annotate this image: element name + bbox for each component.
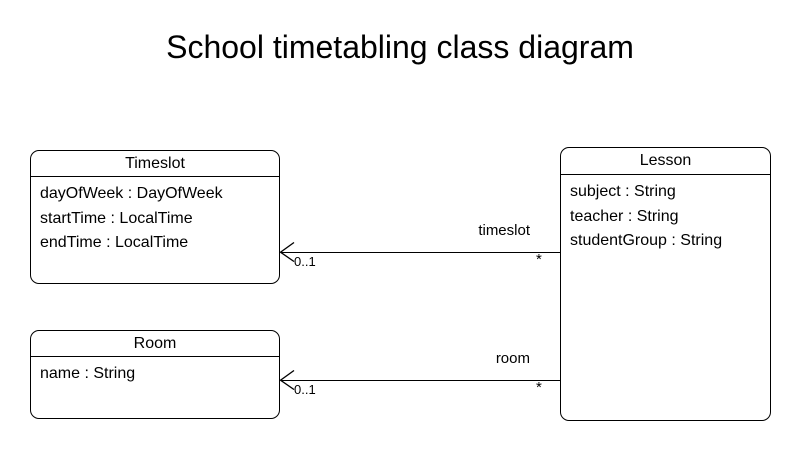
attribute-item: endTime : LocalTime	[40, 231, 273, 256]
class-diagram-canvas: School timetabling class diagram Timeslo…	[0, 0, 800, 450]
attribute-list: name : String	[40, 362, 273, 387]
multiplicity-timeslot-target: 0..1	[294, 254, 316, 270]
multiplicity-room-target: 0..1	[294, 382, 316, 398]
class-name-timeslot: Timeslot	[31, 154, 279, 174]
association-label-room: room	[400, 350, 530, 368]
association-label-timeslot: timeslot	[400, 222, 530, 240]
attribute-item: name : String	[40, 362, 273, 387]
attribute-list: subject : String teacher : String studen…	[570, 180, 764, 254]
attribute-list: dayOfWeek : DayOfWeek startTime : LocalT…	[40, 182, 273, 256]
open-arrow-icon	[279, 242, 295, 262]
class-box-room[interactable]: Room name : String	[30, 330, 280, 419]
class-name-lesson: Lesson	[561, 151, 770, 171]
open-arrow-icon	[279, 370, 295, 390]
class-divider	[31, 356, 279, 357]
class-box-timeslot[interactable]: Timeslot dayOfWeek : DayOfWeek startTime…	[30, 150, 280, 284]
attribute-item: teacher : String	[570, 205, 764, 230]
attribute-item: startTime : LocalTime	[40, 207, 273, 232]
class-name-room: Room	[31, 334, 279, 354]
page-title: School timetabling class diagram	[0, 27, 800, 67]
association-line-timeslot	[281, 252, 560, 253]
association-line-room	[281, 380, 560, 381]
attribute-item: studentGroup : String	[570, 229, 764, 254]
class-box-lesson[interactable]: Lesson subject : String teacher : String…	[560, 147, 771, 421]
class-divider	[31, 176, 279, 177]
multiplicity-timeslot-source: *	[536, 252, 542, 268]
class-divider	[561, 174, 770, 175]
attribute-item: subject : String	[570, 180, 764, 205]
multiplicity-room-source: *	[536, 380, 542, 396]
attribute-item: dayOfWeek : DayOfWeek	[40, 182, 273, 207]
